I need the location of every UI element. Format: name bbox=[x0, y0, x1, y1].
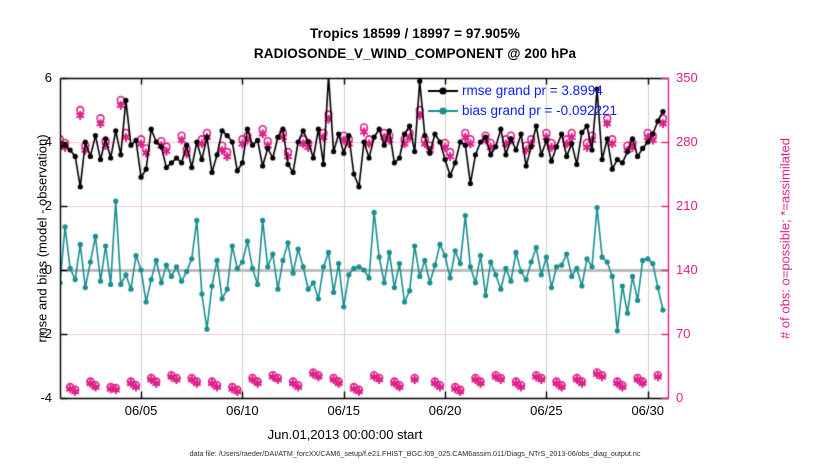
legend-label-bias: bias grand pr = -0.092221 bbox=[462, 104, 617, 118]
x-tick-label: 06/30 bbox=[613, 404, 683, 417]
y-right-tick-label: 280 bbox=[676, 135, 722, 148]
data-file-footer: data file: /Users/raeder/DAI/ATM_forcXX/… bbox=[0, 450, 830, 457]
y-left-tick-label: -2 bbox=[10, 327, 52, 340]
chart-title-line2: RADIOSONDE_V_WIND_COMPONENT @ 200 hPa bbox=[0, 47, 830, 61]
x-tick-label: 06/05 bbox=[106, 404, 176, 417]
y-left-tick-label: -4 bbox=[10, 391, 52, 404]
x-tick-label: 06/25 bbox=[511, 404, 581, 417]
figure-root: Tropics 18599 / 18997 = 97.905% RADIOSON… bbox=[0, 0, 830, 470]
x-tick-label: 06/20 bbox=[410, 404, 480, 417]
legend-label-rmse: rmse grand pr = 3.8994 bbox=[462, 84, 603, 98]
y-axis-left-label: rmse and bias (model - observation) bbox=[36, 69, 49, 409]
y-right-tick-label: 140 bbox=[676, 263, 722, 276]
y-left-tick-label: 6 bbox=[10, 71, 52, 84]
chart-title-line1: Tropics 18599 / 18997 = 97.905% bbox=[0, 27, 830, 41]
y-left-tick-label: 0 bbox=[10, 263, 52, 276]
y-right-tick-label: 350 bbox=[676, 71, 722, 84]
y-right-tick-label: 210 bbox=[676, 199, 722, 212]
y-axis-right-label: # of obs: o=possible; *=assimilated bbox=[779, 69, 792, 409]
y-right-tick-label: 70 bbox=[676, 327, 722, 340]
x-axis-label: Jun.01,2013 00:00:00 start bbox=[0, 428, 690, 441]
x-tick-label: 06/10 bbox=[207, 404, 277, 417]
y-left-tick-label: 2 bbox=[10, 199, 52, 212]
y-right-tick-label: 0 bbox=[676, 391, 722, 404]
x-tick-label: 06/15 bbox=[309, 404, 379, 417]
y-left-tick-label: 4 bbox=[10, 135, 52, 148]
